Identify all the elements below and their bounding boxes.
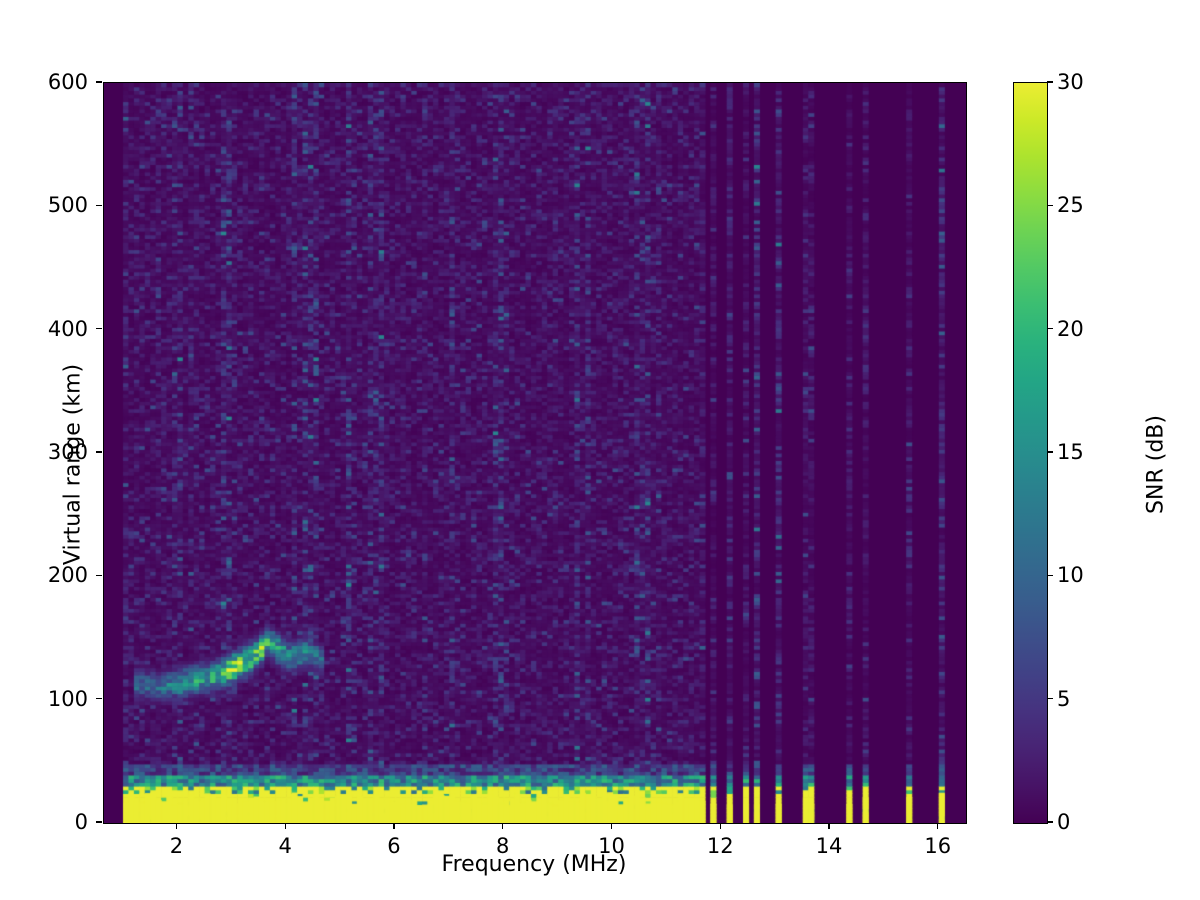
- x-tick-mark: [828, 823, 829, 829]
- colorbar-tick-mark: [1047, 328, 1053, 329]
- y-tick-mark: [96, 698, 102, 699]
- x-tick-mark: [937, 823, 938, 829]
- colorbar-tick-label: 0: [1057, 810, 1070, 834]
- y-tick-label: 600: [0, 70, 88, 94]
- colorbar-tick-mark: [1047, 451, 1053, 452]
- colorbar-tick-mark: [1047, 205, 1053, 206]
- colorbar-label: SNR (dB): [1144, 315, 1169, 615]
- x-tick-mark: [502, 823, 503, 829]
- colorbar[interactable]: [1013, 82, 1048, 824]
- y-tick-mark: [96, 328, 102, 329]
- colorbar-tick-mark: [1047, 698, 1053, 699]
- y-tick-mark: [96, 205, 102, 206]
- y-tick-mark: [96, 81, 102, 82]
- x-tick-mark: [285, 823, 286, 829]
- colorbar-tick-label: 15: [1057, 440, 1084, 464]
- x-tick-mark: [720, 823, 721, 829]
- ionogram-plot-area[interactable]: [103, 82, 967, 824]
- y-tick-label: 0: [0, 810, 88, 834]
- colorbar-tick-mark: [1047, 81, 1053, 82]
- colorbar-tick-label: 10: [1057, 563, 1084, 587]
- colorbar-tick-mark: [1047, 575, 1053, 576]
- colorbar-tick-mark: [1047, 821, 1053, 822]
- x-tick-mark: [176, 823, 177, 829]
- x-tick-mark: [393, 823, 394, 829]
- y-tick-mark: [96, 451, 102, 452]
- colorbar-tick-label: 20: [1057, 317, 1084, 341]
- colorbar-gradient: [1014, 83, 1047, 823]
- y-tick-mark: [96, 575, 102, 576]
- y-axis-label: Virtual range (km): [61, 315, 86, 615]
- y-tick-label: 100: [0, 687, 88, 711]
- ionogram-figure: IRF Kiruna Ionosonde KI167 2025-10-11 19…: [0, 0, 1200, 900]
- ionogram-heatmap: [104, 83, 966, 823]
- colorbar-tick-label: 5: [1057, 687, 1070, 711]
- y-tick-mark: [96, 821, 102, 822]
- y-tick-label: 500: [0, 193, 88, 217]
- colorbar-tick-label: 25: [1057, 193, 1084, 217]
- colorbar-tick-label: 30: [1057, 70, 1084, 94]
- x-tick-mark: [611, 823, 612, 829]
- x-axis-label: Frequency (MHz): [103, 852, 965, 877]
